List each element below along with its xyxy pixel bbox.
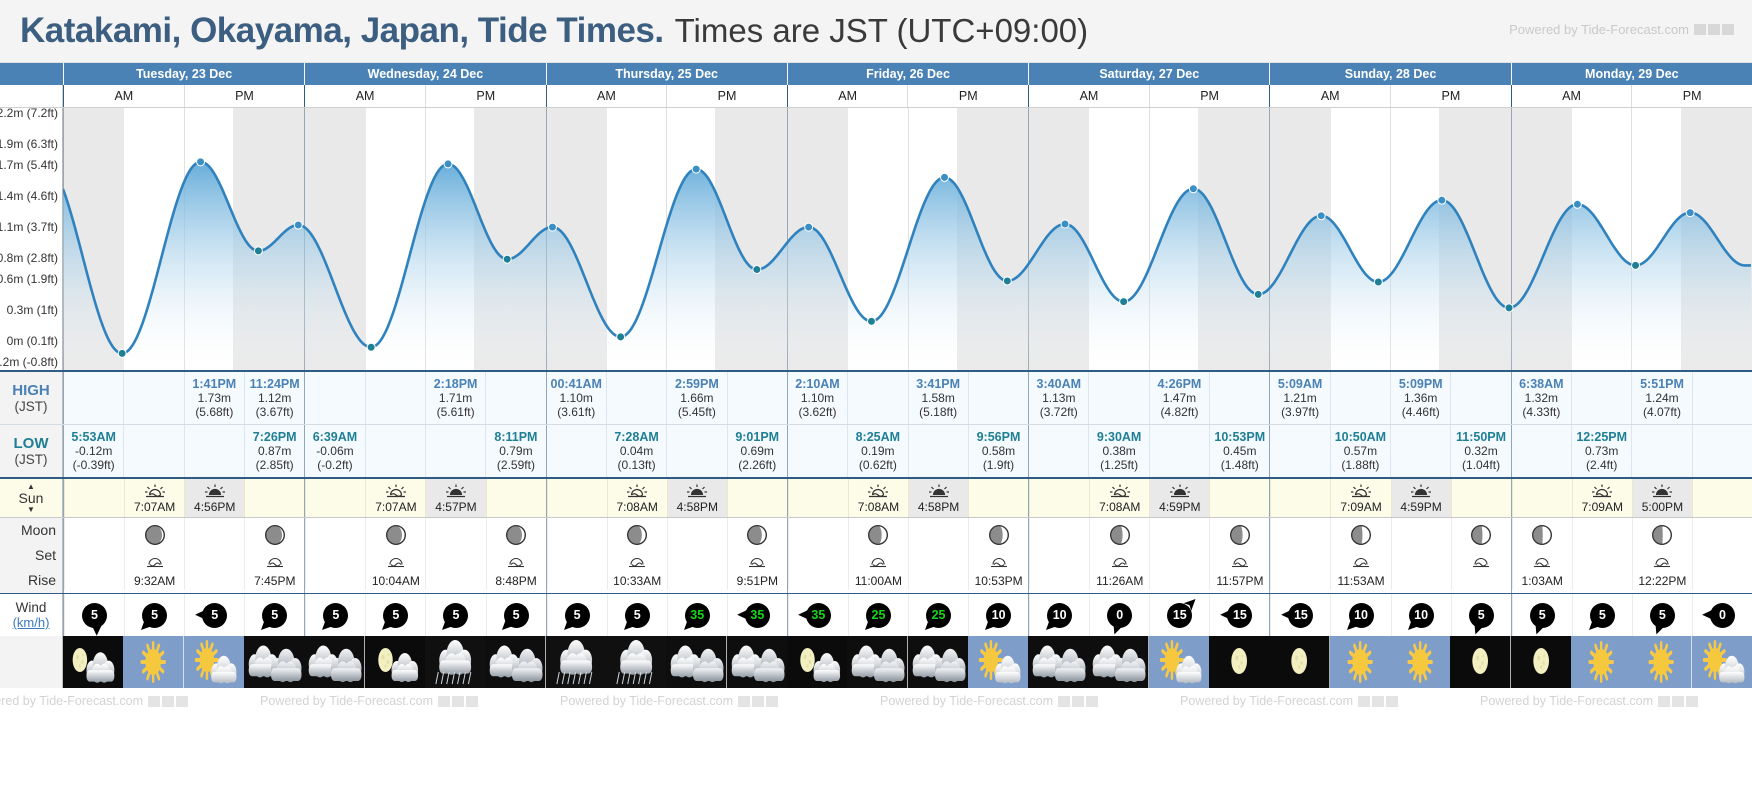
moonset-time: 10:04AM [372,574,420,588]
wind-cell: 0➤ [1692,594,1752,636]
weather-cell [485,636,545,688]
weather-icon-cloudy [666,636,726,688]
sun-cell [968,479,1028,517]
wind-speed-value: 0 [1116,608,1123,622]
tide-high-marker-15 [1061,220,1069,228]
sunny-cloudy-icon [184,636,244,688]
high-tide-meters: 1.24m [1645,391,1678,405]
low-tide-cell [788,425,847,477]
weather-icon-sunny [1390,636,1450,688]
high-tide-cell [968,372,1028,424]
sun-cell [727,479,787,517]
weather-icon-sunny [1571,636,1631,688]
wind-speed-value: 5 [271,608,278,622]
flag-icon [1672,696,1684,707]
footer-watermark-5: Powered by Tide-Forecast.com [1480,694,1698,708]
footer-watermark-0: Powered by Tide-Forecast.com [0,694,188,708]
low-tide-time: 7:26PM [253,430,297,444]
moonset-time: 11:26AM [1096,574,1143,588]
moon-cell: 9:32AM [124,518,184,590]
low-tide-time: 10:50AM [1335,430,1386,444]
flag-icon [148,696,160,707]
high-tide-cell [1692,372,1752,424]
moon-event-icon-wrap [988,555,1010,573]
chart-plot-area [63,108,1752,370]
flag-icon [452,696,464,707]
moon-cell: 9:51PM [727,518,787,590]
moon-cell [547,518,607,590]
flag-icon [766,696,778,707]
weather-cell [1511,636,1571,688]
cloudy-icon [727,636,787,688]
powered-by-header: Powered by Tide-Forecast.com [1509,22,1734,37]
tide-low-marker-18 [1254,290,1262,298]
sun-cell [486,479,546,517]
wind-speed-badge: 15➤ [1288,603,1313,628]
ampm-pm-0: PM [184,85,305,107]
high-tide-cell [1088,372,1148,424]
wind-speed-badge: 0➤ [1710,603,1735,628]
high-tide-time: 5:09PM [1399,377,1443,391]
sun-day-1: 7:07AM4:57PM [304,479,545,517]
page-subtitle: Times are JST (UTC+09:00) [675,12,1089,50]
low-tide-time: 5:53AM [71,430,115,444]
flag-icon [162,696,174,707]
moonrise-time: 11:57PM [1216,574,1263,588]
weather-icon-cloudy [244,636,304,688]
wind-label-text: Wind [16,600,47,615]
tide-high-marker-9 [692,165,700,173]
y-tick-8: 0m (0.1ft) [7,334,58,348]
moon-cell [1692,518,1752,590]
tide-high-marker-13 [941,173,949,181]
low-tide-meters: 0.32m [1464,444,1497,458]
sunset-time: 5:00PM [1642,500,1683,514]
ampm-am-2: AM [547,85,667,107]
high-tide-meters: 1.13m [1042,391,1075,405]
sunny-icon [1571,636,1631,688]
high-day-0: 1:41PM1.73m(5.68ft)11:24PM1.12m(3.67ft) [63,372,304,424]
low-label-text: LOW [14,435,49,452]
wind-direction-arrow-icon: ➤ [88,623,103,636]
sunrise-icon [384,483,408,499]
high-day-3: 2:10AM1.10m(3.62ft)3:41PM1.58m(5.18ft) [787,372,1028,424]
wind-speed-value: 5 [91,608,98,622]
weather-cell [1028,636,1088,688]
wind-cell: 25➤ [908,594,968,636]
ampm-pm-5: PM [1390,85,1511,107]
wind-speed-badge: 15➤ [1167,603,1192,628]
low-tide-feet: (0.62ft) [859,458,897,472]
wind-speed-value: 5 [1539,608,1546,622]
wind-day-4: 10➤0➤15➤15➤ [1028,594,1269,636]
wind-speed-badge: 5➤ [504,603,529,628]
sunrise-time: 7:07AM [375,500,416,514]
night-partly-cloudy-icon [63,636,123,688]
weather-cells [63,636,1752,688]
wind-speed-badge: 5➤ [202,603,227,628]
wind-cell: 5➤ [1632,594,1692,636]
sunrise-icon [143,483,167,499]
wind-speed-badge: 5➤ [383,603,408,628]
moonset-time: 10:33AM [613,574,661,588]
weather-icon-cloudy [847,636,907,688]
sunset-time: 4:56PM [194,500,235,514]
tide-low-marker-0 [118,349,126,357]
low-day-1: 6:39AM-0.06m(-0.2ft)8:11PM0.79m(2.59ft) [304,425,545,477]
tide-chart: 2.2m (7.2ft)1.9m (6.3ft)1.7m (5.4ft)1.4m… [0,108,1752,370]
low-tide-feet: (-0.39ft) [73,458,115,472]
weather-icon-night-cloudy [365,636,425,688]
ampm-day-3: AMPM [787,85,1028,107]
high-tide-feet: (3.62ft) [799,405,837,419]
wind-speed-value: 5 [151,608,158,622]
sunset-time: 4:59PM [1159,500,1200,514]
footer-watermark-1: Powered by Tide-Forecast.com [260,694,478,708]
high-tide-cell [1450,372,1510,424]
low-tide-label: LOW (JST) [0,425,63,477]
ampm-am-4: AM [1029,85,1149,107]
moon-day-1: 10:04AM8:48PM [304,518,545,593]
high-day-4: 3:40AM1.13m(3.72ft)4:26PM1.47m(4.82ft) [1028,372,1269,424]
ampm-am-1: AM [305,85,425,107]
wind-speed-value: 5 [332,608,339,622]
weather-cell [1571,636,1631,688]
high-tide-feet: (4.82ft) [1160,405,1198,419]
footer-watermark-3: Powered by Tide-Forecast.com [880,694,1098,708]
moon-event-icon-wrap [505,555,527,573]
low-tide-cell: 12:25PM0.73m(2.4ft) [1571,425,1631,477]
low-tide-meters: 0.45m [1223,444,1256,458]
moon-phase-icon [505,524,527,546]
chart-y-axis: 2.2m (7.2ft)1.9m (6.3ft)1.7m (5.4ft)1.4m… [0,108,63,370]
sun-cell [244,479,304,517]
moon-cell: 11:00AM [848,518,908,590]
flag-icon [1658,696,1670,707]
high-tide-feet: (4.33ft) [1522,405,1560,419]
low-tide-cell [365,425,425,477]
sun-cell: 7:07AM [365,479,425,517]
high-tide-feet: (4.46ft) [1402,405,1440,419]
ampm-band: AMPMAMPMAMPMAMPMAMPMAMPMAMPM [0,85,1752,108]
high-tide-feet: (5.61ft) [437,405,475,419]
ampm-pm-1: PM [425,85,546,107]
footer-watermark-2: Powered by Tide-Forecast.com [560,694,778,708]
moon-phase-icon [1109,524,1131,546]
sunrise-time: 7:09AM [1582,500,1623,514]
high-tide-time: 5:09AM [1278,377,1322,391]
moonset-icon [144,555,166,568]
high-label-unit: (JST) [15,399,48,414]
high-tide-meters: 1.73m [198,391,231,405]
wind-day-5: 15➤10➤10➤5➤ [1269,594,1510,636]
tide-low-marker-16 [1120,298,1128,306]
footer-watermark-text: Powered by Tide-Forecast.com [560,694,733,708]
low-tide-cell [123,425,183,477]
footer-watermark-text: Powered by Tide-Forecast.com [1180,694,1353,708]
low-tide-feet: (1.25ft) [1100,458,1138,472]
high-tide-time: 3:41PM [916,377,960,391]
sun-cell: 4:58PM [908,479,968,517]
tide-low-marker-22 [1505,304,1513,312]
sun-cell: 4:58PM [667,479,727,517]
moon-phase-icon [626,524,648,546]
cloudy-icon [1028,636,1088,688]
sunset-time: 4:58PM [918,500,959,514]
weather-icon-sunny-cloudy [1692,636,1752,688]
weather-cell [304,636,364,688]
weather-cell [1330,636,1390,688]
sun-label-text: Sun [19,490,44,506]
sun-cell: 7:08AM [848,479,908,517]
high-tide-cell: 4:26PM1.47m(4.82ft) [1149,372,1209,424]
moon-event-icon-wrap [1470,555,1492,573]
wind-cell: 35➤ [667,594,727,636]
ampm-am-6: AM [1512,85,1632,107]
moon-cell [1149,518,1209,590]
moon-cell [305,518,365,590]
moon-cell [1029,518,1089,590]
low-tide-time: 9:01PM [735,430,779,444]
day-header-3: Friday, 26 Dec [787,63,1028,85]
moon-event-icon-wrap [1531,555,1553,573]
ampm-day-0: AMPM [63,85,304,107]
moon-phase-icon [1651,524,1673,546]
low-tide-feet: (2.59ft) [497,458,535,472]
wind-cell: 5➤ [184,594,244,636]
low-tide-meters: 0.73m [1585,444,1618,458]
wx-day-0 [63,636,304,688]
high-tide-cell [64,372,123,424]
high-tide-time: 11:24PM [250,377,300,391]
moonset-time: 9:32AM [134,574,175,588]
high-tide-meters: 1.10m [801,391,834,405]
flag-icons [1694,24,1734,35]
ampm-am-5: AM [1270,85,1390,107]
cloudy-icon [847,636,907,688]
flag-icon [1386,696,1398,707]
wind-cell: 15➤ [1270,594,1330,636]
weather-cell [727,636,787,688]
footer-flag-icons [1058,696,1098,707]
sun-cell [64,479,124,517]
day-header-1: Wednesday, 24 Dec [304,63,545,85]
moon-phase-icon [1350,524,1372,546]
weather-icon-cloudy [1028,636,1088,688]
tide-low-marker-14 [1003,277,1011,285]
moon-event-icon-wrap [746,555,768,573]
weather-cell [123,636,183,688]
wind-direction-arrow-icon: ➤ [1529,620,1547,637]
high-tide-cell: 00:41AM1.10m(3.61ft) [547,372,606,424]
moon-event-icon-wrap [626,555,648,573]
day-header-2: Thursday, 25 Dec [546,63,787,85]
moon-day-3: 11:00AM10:53PM [787,518,1028,593]
wind-speed-value: 25 [872,608,886,622]
wind-speed-value: 0 [1719,608,1726,622]
rain-icon [606,636,666,688]
moonset-time: 12:22PM [1638,574,1686,588]
low-tide-cell: 7:28AM0.04m(0.13ft) [606,425,666,477]
sun-day-5: 7:09AM4:59PM [1269,479,1510,517]
moon-phase-icon [264,524,286,546]
wind-speed-badge: 35➤ [745,603,770,628]
low-tide-time: 9:56PM [977,430,1021,444]
flag-icon [1708,24,1720,35]
flag-icon [1694,24,1706,35]
wind-speed-badge: 35➤ [806,603,831,628]
footer-flag-icons [438,696,478,707]
y-tick-4: 1.1m (3.7ft) [0,220,58,234]
day-header-5: Sunday, 28 Dec [1269,63,1510,85]
weather-icon-sunny-cloudy [1149,636,1209,688]
sun-cell: 7:07AM [124,479,184,517]
moon-cell [184,518,244,590]
wind-speed-badge: 10➤ [986,603,1011,628]
wind-speed-badge: 25➤ [926,603,951,628]
low-tide-meters: 0.87m [258,444,291,458]
high-tide-feet: (4.07ft) [1643,405,1681,419]
wind-speed-badge: 5➤ [1469,603,1494,628]
moon-cell [908,518,968,590]
weather-spacer [0,636,63,688]
moonrise-icon [1470,555,1492,568]
sun-up-arrow-icon: ▲ [27,483,35,490]
high-tide-time: 1:41PM [192,377,236,391]
sun-cell [1692,479,1752,517]
day-header-band: Tuesday, 23 DecWednesday, 24 DecThursday… [0,63,1752,85]
tide-low-marker-8 [617,333,625,341]
cloudy-icon [485,636,545,688]
wind-cell: 5➤ [244,594,304,636]
low-tide-feet: (0.13ft) [618,458,656,472]
weather-icon-night-partly-cloudy [63,636,123,688]
day-header-list: Tuesday, 23 DecWednesday, 24 DecThursday… [63,63,1752,85]
sunny-icon [1330,636,1390,688]
high-tide-cell: 1:41PM1.73m(5.68ft) [184,372,244,424]
footer-flag-icons [738,696,778,707]
ampm-pm-6: PM [1631,85,1752,107]
moon-cell [1270,518,1330,590]
sunset-time: 4:58PM [677,500,718,514]
moonrise-time: 10:53PM [975,574,1023,588]
wind-direction-arrow-icon: ➤ [1220,607,1233,622]
sun-cell: 4:57PM [425,479,485,517]
moon-cell: 10:33AM [607,518,667,590]
high-tide-time: 6:38AM [1519,377,1563,391]
wind-speed-value: 15 [1233,608,1247,622]
high-tide-time: 4:26PM [1158,377,1202,391]
ampm-day-6: AMPM [1511,85,1752,107]
high-tide-label: HIGH (JST) [0,372,63,424]
low-tide-time: 12:25PM [1576,430,1627,444]
weather-icon-cloudy [1088,636,1148,688]
low-tide-meters: 0.79m [499,444,532,458]
sun-row: ▲ Sun ▼ 7:07AM4:56PM7:07AM4:57PM7:08AM4:… [0,477,1752,517]
wind-speed-badge: 25➤ [866,603,891,628]
moonset-icon [385,555,407,568]
high-tide-cell [485,372,545,424]
tide-low-marker-4 [367,343,375,351]
wind-cell: 5➤ [124,594,184,636]
sun-cell [1451,479,1511,517]
cloudy-icon [1088,636,1148,688]
low-tide-feet: (2.85ft) [256,458,294,472]
moon-phase-icon [867,524,889,546]
sunrise-icon [1590,483,1614,499]
footer-flag-icons [1658,696,1698,707]
moonrise-time: 1:03AM [1522,574,1563,588]
low-day-5: 10:50AM0.57m(1.88ft)11:50PM0.32m(1.04ft) [1269,425,1510,477]
high-tide-meters: 1.21m [1283,391,1316,405]
high-tide-cell: 3:40AM1.13m(3.72ft) [1029,372,1088,424]
moon-phase-icon [988,524,1010,546]
moonset-icon [1651,555,1673,568]
weather-cell [1269,636,1329,688]
sun-cell [547,479,607,517]
tide-high-marker-7 [548,223,556,231]
moonset-time: 11:00AM [855,574,902,588]
wind-cell: 0➤ [1089,594,1149,636]
wind-speed-value: 10 [1053,608,1067,622]
moon-day-2: 10:33AM9:51PM [546,518,787,593]
wind-speed-value: 5 [513,608,520,622]
sun-cell: 4:59PM [1391,479,1451,517]
high-tide-meters: 1.12m [258,391,291,405]
low-tide-cell: 6:39AM-0.06m(-0.2ft) [305,425,364,477]
low-day-4: 9:30AM0.38m(1.25ft)10:53PM0.45m(1.48ft) [1028,425,1269,477]
moon-day-5: 11:53AM [1269,518,1510,593]
cloudy-icon [908,636,968,688]
high-tide-meters: 1.10m [560,391,593,405]
sunrise-icon [866,483,890,499]
high-tide-cell [727,372,787,424]
weather-cell [787,636,847,688]
low-day-2: 7:28AM0.04m(0.13ft)9:01PM0.69m(2.26ft) [546,425,787,477]
footer-watermark-text: Powered by Tide-Forecast.com [1480,694,1653,708]
wind-cell: 5➤ [1512,594,1572,636]
sunrise-icon [1108,483,1132,499]
ampm-pm-4: PM [1149,85,1270,107]
moon-phase-icon [144,524,166,546]
low-tide-meters: 0.04m [620,444,653,458]
sun-cell: 7:09AM [1330,479,1390,517]
low-tide-cell: 10:50AM0.57m(1.88ft) [1330,425,1390,477]
wind-row: Wind (km/h) 5➤5➤5➤5➤5➤5➤5➤5➤5➤5➤35➤35➤35… [0,593,1752,636]
sunrise-time: 7:09AM [1340,500,1381,514]
wind-speed-value: 5 [574,608,581,622]
wind-cells: 5➤5➤5➤5➤5➤5➤5➤5➤5➤5➤35➤35➤35➤25➤25➤10➤10… [63,594,1752,636]
day-header-4: Saturday, 27 Dec [1028,63,1269,85]
sunny-cloudy-icon [1692,636,1752,688]
high-tide-feet: (5.45ft) [678,405,716,419]
wind-cell: 25➤ [848,594,908,636]
moon-cell: 12:22PM [1632,518,1692,590]
wind-speed-badge: 5➤ [1590,603,1615,628]
moon-phase-icon [746,524,768,546]
sunny-icon [1631,636,1691,688]
wind-speed-value: 35 [750,608,764,622]
low-tide-cell [908,425,968,477]
night-clear-icon [1269,636,1329,688]
wind-cell: 5➤ [486,594,546,636]
flag-icon [1686,696,1698,707]
weather-icon-rain [606,636,666,688]
y-tick-5: 0.8m (2.8ft) [0,251,58,265]
high-tide-cell: 3:41PM1.58m(5.18ft) [908,372,968,424]
wind-unit-link[interactable]: (km/h) [13,615,50,630]
footer-flag-icons [148,696,188,707]
